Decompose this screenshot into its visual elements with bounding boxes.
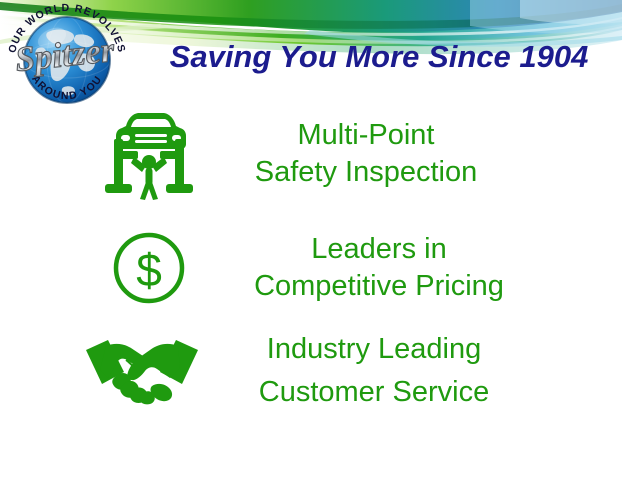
svg-text:$: $ xyxy=(136,244,162,296)
car-on-lift-icon xyxy=(90,108,208,200)
feature-row-industry-leading-customer-service: Industry Leading Customer Service xyxy=(78,328,610,414)
feature-row-leaders-in-competitive-pricing: $ Leaders in Competitive Pricing xyxy=(90,222,610,314)
feature-label-industry-leading-customer-service: Industry Leading Customer Service xyxy=(206,328,610,414)
dollar-circle-icon: $ xyxy=(90,222,208,314)
feature-row-multi-point-safety-inspection: Multi-Point Safety Inspection xyxy=(90,108,610,200)
feature-line: Leaders in xyxy=(208,231,550,268)
feature-line: Safety Inspection xyxy=(208,154,524,191)
feature-label-leaders-in-competitive-pricing: Leaders in Competitive Pricing xyxy=(208,231,610,305)
spitzer-logo: OUR WORLD REVOLVES AROUND YOU Spitzer xyxy=(2,2,132,114)
handshake-icon xyxy=(78,328,206,414)
marketing-slide: OUR WORLD REVOLVES AROUND YOU Spitzer Sa… xyxy=(0,0,622,483)
feature-label-multi-point-safety-inspection: Multi-Point Safety Inspection xyxy=(208,117,610,191)
feature-line: Multi-Point xyxy=(208,117,524,154)
feature-line: Customer Service xyxy=(206,371,542,414)
page-title: Saving You More Since 1904 xyxy=(140,38,618,76)
feature-line: Competitive Pricing xyxy=(208,268,550,305)
feature-line: Industry Leading xyxy=(206,328,542,371)
